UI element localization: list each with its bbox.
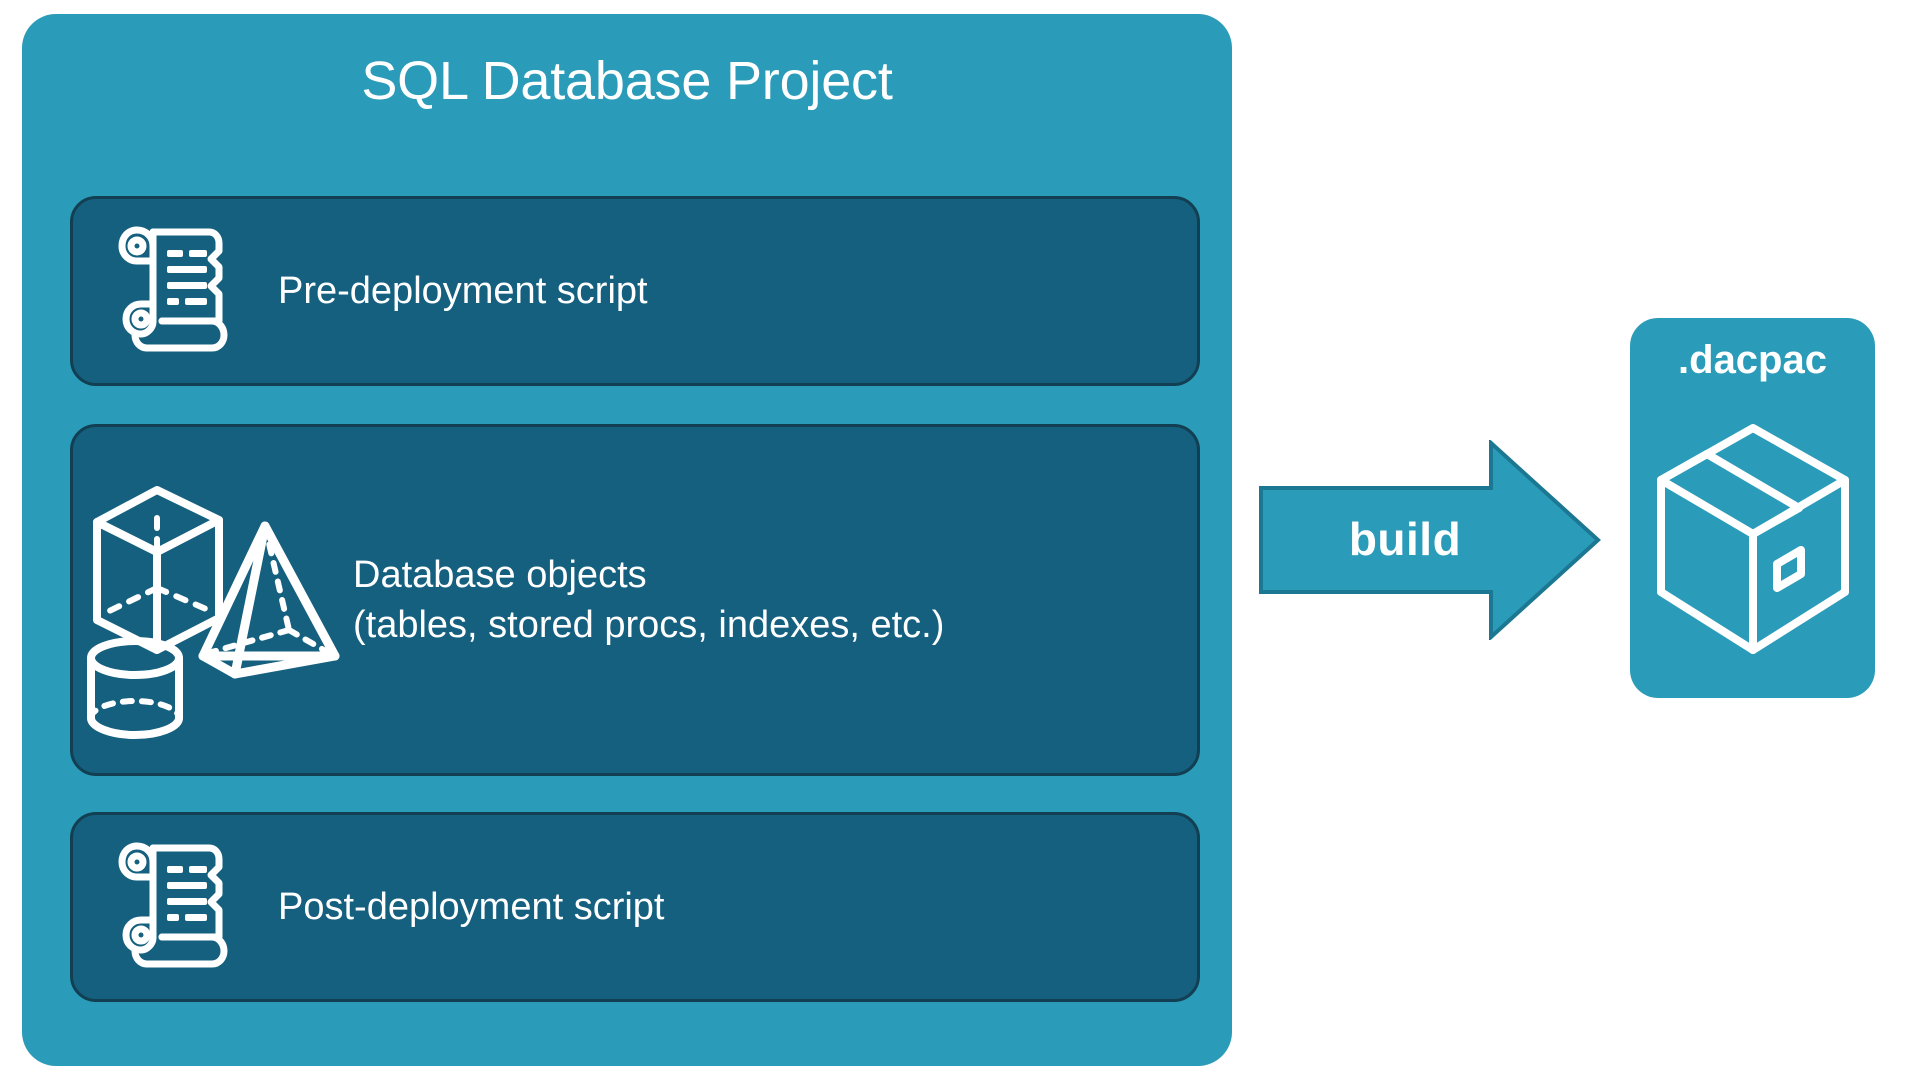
build-arrow: build — [1258, 440, 1603, 640]
arrow-right-icon — [1258, 440, 1603, 640]
card-post-label: Post-deployment script — [278, 882, 665, 932]
card-pre-icon-slot — [73, 224, 278, 359]
dacpac-output-card[interactable]: .dacpac — [1630, 318, 1875, 698]
package-box-icon — [1655, 422, 1851, 663]
sql-database-project-panel: SQL Database Project — [22, 14, 1232, 1066]
cylinder-icon — [91, 641, 179, 735]
card-objects-icon-slot — [73, 460, 353, 740]
card-pre-label: Pre-deployment script — [278, 266, 648, 316]
card-database-objects[interactable]: Database objects (tables, stored procs, … — [70, 424, 1200, 776]
card-post-deployment-script[interactable]: Post-deployment script — [70, 812, 1200, 1002]
scroll-icon — [117, 840, 235, 975]
cube-icon — [97, 490, 219, 650]
card-post-icon-slot — [73, 840, 278, 975]
page-title: SQL Database Project — [22, 52, 1232, 111]
card-pre-deployment-script[interactable]: Pre-deployment script — [70, 196, 1200, 386]
dacpac-icon-slot — [1630, 402, 1875, 682]
scroll-icon — [117, 224, 235, 359]
card-objects-label: Database objects (tables, stored procs, … — [353, 550, 944, 650]
dacpac-label: .dacpac — [1630, 338, 1875, 383]
